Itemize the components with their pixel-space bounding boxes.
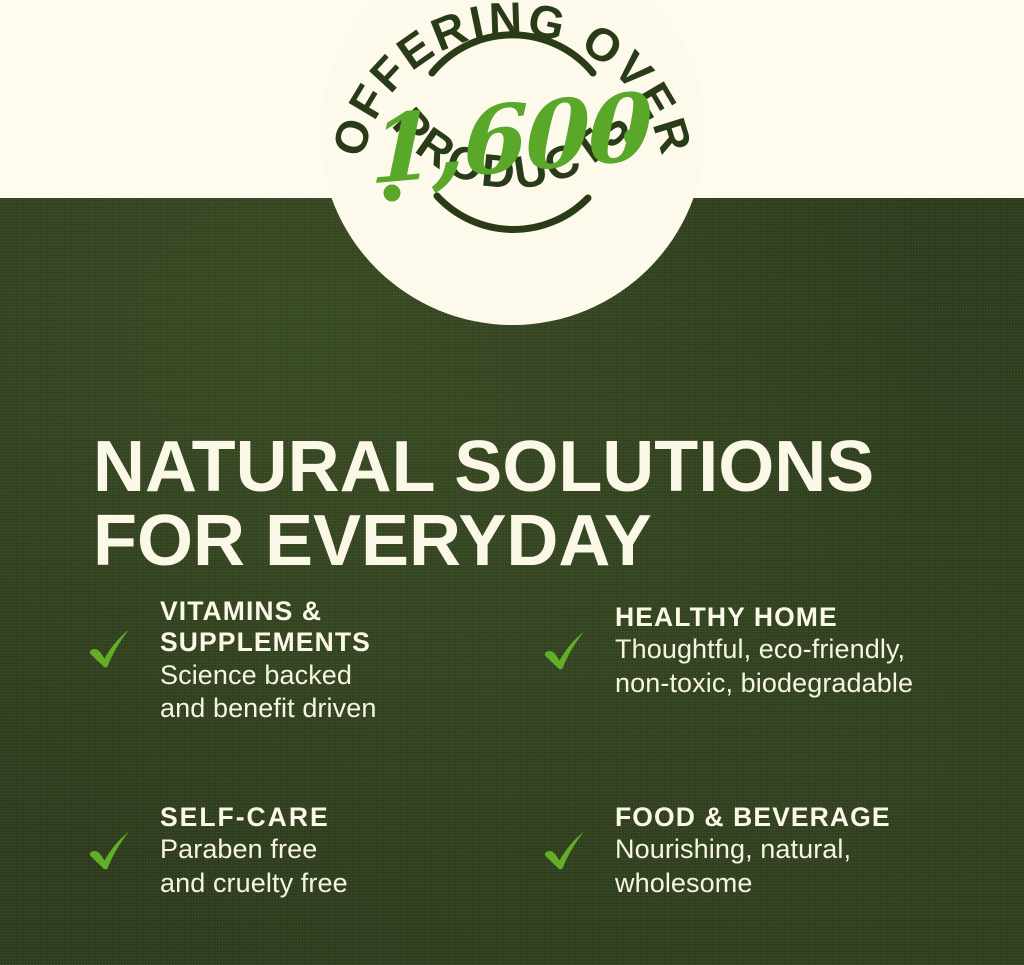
feature-desc-line-1: Nourishing, natural,: [615, 833, 1013, 867]
feature-desc-line-2: and cruelty free: [160, 867, 518, 901]
check-icon: [88, 802, 142, 870]
feature-text: HEALTHY HOME Thoughtful, eco-friendly, n…: [597, 602, 1013, 701]
feature-title-line-2: SUPPLEMENTS: [160, 627, 518, 658]
feature-text: SELF-CARE Paraben free and cruelty free: [142, 802, 518, 901]
feature-desc-line-2: and benefit driven: [160, 692, 518, 726]
headline-line-1: NATURAL SOLUTIONS: [93, 431, 973, 504]
check-icon: [543, 802, 597, 870]
feature-item-food-beverage: FOOD & BEVERAGE Nourishing, natural, who…: [543, 802, 1013, 901]
feature-desc-line-1: Paraben free: [160, 833, 518, 867]
promo-poster: OFFERING OVER PRODUCTS 1,600 NATURAL SOL…: [0, 0, 1024, 965]
feature-row-top: VITAMINS & SUPPLEMENTS Science backed an…: [0, 592, 1024, 796]
feature-description: Thoughtful, eco-friendly, non-toxic, bio…: [615, 633, 1013, 701]
feature-title: SELF-CARE: [160, 802, 518, 833]
check-icon: [88, 596, 142, 668]
badge-count-value: 1,600: [370, 79, 652, 197]
feature-item-self-care: SELF-CARE Paraben free and cruelty free: [88, 802, 518, 901]
feature-item-healthy-home: HEALTHY HOME Thoughtful, eco-friendly, n…: [543, 602, 1013, 701]
feature-title: VITAMINS & SUPPLEMENTS: [160, 596, 518, 659]
headline-line-2: FOR EVERYDAY: [93, 505, 973, 578]
feature-grid: VITAMINS & SUPPLEMENTS Science backed an…: [0, 592, 1024, 956]
feature-text: FOOD & BEVERAGE Nourishing, natural, who…: [597, 802, 1013, 901]
feature-item-vitamins-supplements: VITAMINS & SUPPLEMENTS Science backed an…: [88, 596, 518, 726]
feature-row-bottom: SELF-CARE Paraben free and cruelty free …: [0, 796, 1024, 956]
feature-title: HEALTHY HOME: [615, 602, 1013, 633]
feature-description: Nourishing, natural, wholesome: [615, 833, 1013, 901]
feature-title-line-1: VITAMINS &: [160, 596, 518, 627]
feature-desc-line-2: non-toxic, biodegradable: [615, 667, 1013, 701]
badge-count: 1,600: [320, 0, 705, 325]
check-icon: [543, 602, 597, 670]
feature-desc-line-1: Thoughtful, eco-friendly,: [615, 633, 1013, 667]
page-title: NATURAL SOLUTIONS FOR EVERYDAY: [93, 431, 973, 578]
feature-text: VITAMINS & SUPPLEMENTS Science backed an…: [142, 596, 518, 726]
feature-title: FOOD & BEVERAGE: [615, 802, 1013, 833]
feature-desc-line-1: Science backed: [160, 659, 518, 693]
feature-description: Science backed and benefit driven: [160, 659, 518, 727]
feature-description: Paraben free and cruelty free: [160, 833, 518, 901]
feature-desc-line-2: wholesome: [615, 867, 1013, 901]
